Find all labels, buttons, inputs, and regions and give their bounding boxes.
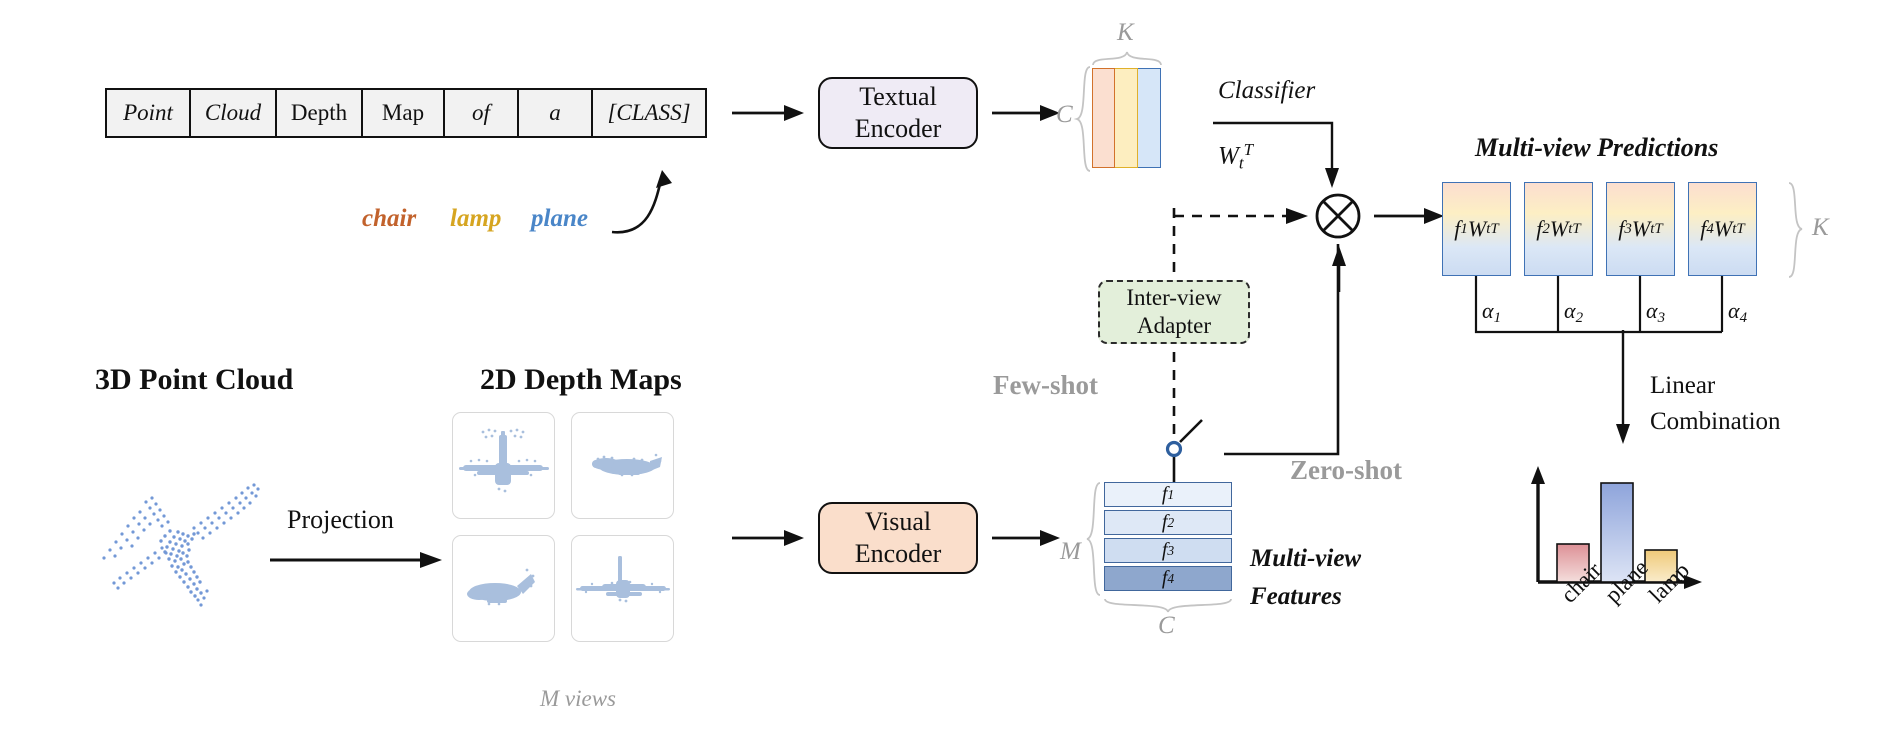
pred4-index: 4 <box>1706 221 1713 238</box>
features-cols-dim-label: C <box>1158 612 1175 640</box>
class-word-lamp: lamp <box>450 205 501 233</box>
predictions-dim-label: K <box>1812 214 1829 242</box>
arrow-linear-combination <box>1614 330 1634 446</box>
predictions-title: Multi-view Predictions <box>1475 133 1718 163</box>
visual-encoder-box[interactable]: Visual Encoder <box>818 502 978 574</box>
pred1-w: W <box>1468 216 1486 242</box>
alpha-label-4: α4 <box>1728 298 1747 327</box>
pred1-wsup: T <box>1490 221 1498 238</box>
features-caption-line1: Multi-view <box>1250 545 1361 573</box>
linear-combination-line1: Linear <box>1650 372 1715 400</box>
classifier-label: Classifier <box>1218 77 1315 105</box>
pred4-wsup: T <box>1736 221 1744 238</box>
depth-view-side-icon <box>572 413 674 519</box>
alpha1-symbol: α <box>1482 298 1494 323</box>
features-caption-line2: Features <box>1250 583 1342 611</box>
classifier-column-plane <box>1138 68 1161 168</box>
depth-map-grid <box>452 412 674 642</box>
arrow-classifier-to-multiply <box>1213 122 1363 192</box>
tensor-multiply-icon <box>1310 188 1366 244</box>
alpha-label-3: α3 <box>1646 298 1665 327</box>
arrow-prompt-to-textual-encoder <box>732 100 808 128</box>
inter-view-adapter-box[interactable]: Inter-view Adapter <box>1098 280 1250 344</box>
feature-index-f3: 3 <box>1167 543 1174 559</box>
adapter-line1: Inter-view <box>1126 284 1221 312</box>
pred4-w: W <box>1714 216 1732 242</box>
views-caption: M views <box>540 686 616 712</box>
prompt-token-point: Point <box>107 90 191 136</box>
arrow-depthmaps-to-visual-encoder <box>732 525 808 553</box>
arrow-zeroshot-into-multiply <box>1330 246 1348 292</box>
pred3-index: 3 <box>1624 221 1631 238</box>
prompt-token-of: of <box>445 90 519 136</box>
bar-chart-svg <box>1520 462 1780 642</box>
mode-switch-icon[interactable] <box>1130 412 1360 492</box>
feature-row-f3: f3 <box>1104 538 1232 563</box>
alpha3-index: 3 <box>1658 310 1665 326</box>
pred2-w: W <box>1550 216 1568 242</box>
depth-view-top-icon <box>572 536 674 642</box>
prediction-box-3: f3WtT <box>1606 182 1675 276</box>
visual-encoder-line1: Visual <box>865 506 931 538</box>
alpha-label-2: α2 <box>1564 298 1583 327</box>
multi-view-feature-stack: f1 f2 f3 f4 <box>1104 482 1232 594</box>
prediction-box-2: f2WtT <box>1524 182 1593 276</box>
pred3-wsup: T <box>1654 221 1662 238</box>
adapter-line2: Adapter <box>1137 312 1211 340</box>
prompt-token-cloud: Cloud <box>191 90 277 136</box>
textual-encoder-line1: Textual <box>859 81 937 113</box>
alpha-label-1: α1 <box>1482 298 1501 327</box>
arrow-multiply-to-predictions <box>1374 203 1450 231</box>
prompt-token-row: Point Cloud Depth Map of a [CLASS] <box>105 88 707 138</box>
textual-encoder-line2: Encoder <box>855 113 942 145</box>
visual-encoder-line2: Encoder <box>855 538 942 570</box>
predictions-dim-brace <box>1788 182 1804 278</box>
depth-map-tile-3 <box>452 535 555 642</box>
feature-index-f2: 2 <box>1167 515 1174 531</box>
prompt-token-depth: Depth <box>277 90 363 136</box>
prompt-token-map: Map <box>363 90 445 136</box>
classifier-cols-dim-label: K <box>1117 19 1134 47</box>
features-rows-brace <box>1086 482 1102 596</box>
classifier-rows-brace <box>1076 66 1092 172</box>
alpha4-index: 4 <box>1740 310 1747 326</box>
feature-index-f1: 1 <box>1167 487 1174 503</box>
point-cloud-title: 3D Point Cloud <box>95 363 293 397</box>
classifier-column-lamp <box>1115 68 1138 168</box>
feature-index-f4: 4 <box>1167 571 1174 587</box>
few-shot-label: Few-shot <box>993 370 1098 401</box>
linear-combination-line2: Combination <box>1650 408 1781 436</box>
depth-map-tile-1 <box>452 412 555 519</box>
result-bar-chart: chair plane lamp <box>1520 462 1780 642</box>
pred2-index: 2 <box>1542 221 1549 238</box>
multi-view-prediction-boxes: f1WtT f2WtT f3WtT f4WtT <box>1442 182 1757 276</box>
alpha2-symbol: α <box>1564 298 1576 323</box>
arrow-textual-encoder-to-classifier <box>992 100 1064 128</box>
classifier-column-chair <box>1092 68 1115 168</box>
alpha2-index: 2 <box>1576 310 1583 326</box>
arrow-visual-encoder-to-features <box>992 525 1064 553</box>
class-curved-arrow-icon <box>610 140 730 240</box>
depth-view-front-icon <box>453 413 555 519</box>
prompt-token-class: [CLASS] <box>593 90 705 136</box>
diagram-canvas: Point Cloud Depth Map of a [CLASS] chair… <box>0 0 1882 746</box>
feature-row-f4: f4 <box>1104 566 1232 591</box>
depth-view-oblique-icon <box>453 536 555 642</box>
point-cloud-render <box>70 440 280 610</box>
classifier-cols-brace <box>1092 50 1162 66</box>
arrow-projection <box>270 548 450 572</box>
feature-row-f1: f1 <box>1104 482 1232 507</box>
feature-row-f2: f2 <box>1104 510 1232 535</box>
prediction-box-1: f1WtT <box>1442 182 1511 276</box>
projection-label: Projection <box>287 505 394 535</box>
depth-map-tile-2 <box>571 412 674 519</box>
pred2-wsup: T <box>1572 221 1580 238</box>
pred3-w: W <box>1632 216 1650 242</box>
class-word-plane: plane <box>531 205 588 233</box>
dashed-arrow-adapter-to-multiply <box>1174 206 1312 232</box>
alpha4-symbol: α <box>1728 298 1740 323</box>
prompt-token-a: a <box>519 90 593 136</box>
classifier-weight-matrix <box>1092 68 1161 168</box>
textual-encoder-box[interactable]: Textual Encoder <box>818 77 978 149</box>
alpha1-index: 1 <box>1494 310 1501 326</box>
depth-maps-title: 2D Depth Maps <box>480 363 682 397</box>
prediction-box-4: f4WtT <box>1688 182 1757 276</box>
depth-map-tile-4 <box>571 535 674 642</box>
pred1-index: 1 <box>1460 221 1467 238</box>
class-word-chair: chair <box>362 205 416 233</box>
alpha3-symbol: α <box>1646 298 1658 323</box>
classifier-rows-dim-label: C <box>1056 101 1073 129</box>
